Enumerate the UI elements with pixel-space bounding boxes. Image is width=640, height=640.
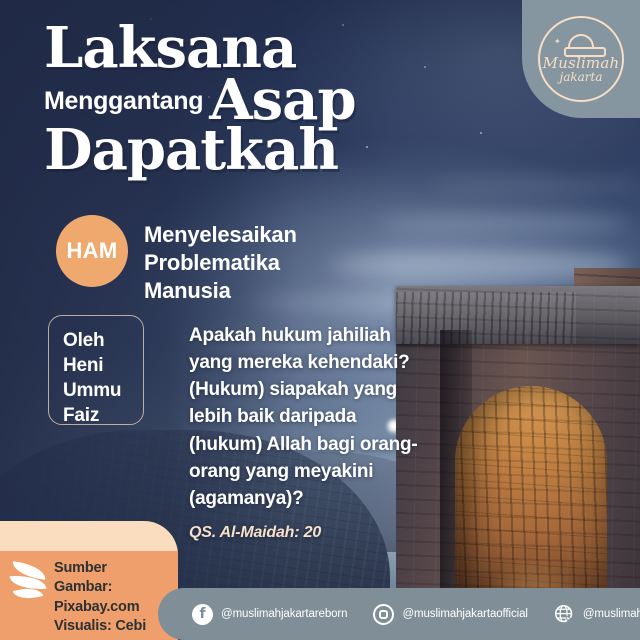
headline-line-3: Dapatkah [44,124,430,178]
quote-text: Apakah hukum jahiliah yang mereka kehend… [189,322,424,512]
logo-line-2: jakarta [559,70,602,84]
image-credit-text: SumberGambar:Pixabay.comVisualis: Cebi [54,559,146,637]
website-globe-icon [554,604,575,625]
logo-badge: ✦ Muslimah jakarta [538,16,624,102]
facebook-handle: @muslimahjakartareborn [221,608,347,620]
leaf-icon [8,559,50,605]
topic-row: HAM MenyelesaikanProblematikaManusia [56,215,297,305]
footer-credit-row: SumberGambar:Pixabay.comVisualis: Cebi [0,551,178,640]
topic-subtitle: MenyelesaikanProblematikaManusia [144,215,297,305]
poster-canvas: ✦ Muslimah jakarta Laksana Menggantang A… [0,0,640,640]
instagram-handle: @muslimahjakartaofficial [402,608,527,620]
social-item-website[interactable]: @muslimahjakarta.com [554,604,640,625]
social-item-facebook[interactable]: f @muslimahjakartareborn [192,604,347,625]
topic-badge: HAM [56,215,128,287]
headline-small-word: Menggantang [44,87,203,116]
sparkle-icon: ✦ [554,38,561,46]
lamp-icon [568,34,594,51]
social-item-instagram[interactable]: @muslimahjakartaofficial [373,604,527,625]
quote-source: QS. Al-Maidah: 20 [189,524,321,542]
instagram-icon [373,604,394,625]
social-bar: f @muslimahjakartareborn @muslimahjakart… [158,588,640,640]
website-handle: @muslimahjakarta.com [583,608,640,620]
facebook-icon: f [192,604,213,625]
logo-panel: ✦ Muslimah jakarta [522,0,640,118]
author-box: OlehHeniUmmuFaiz [48,315,144,425]
headline-block: Laksana Menggantang Asap Dapatkah [0,22,430,177]
